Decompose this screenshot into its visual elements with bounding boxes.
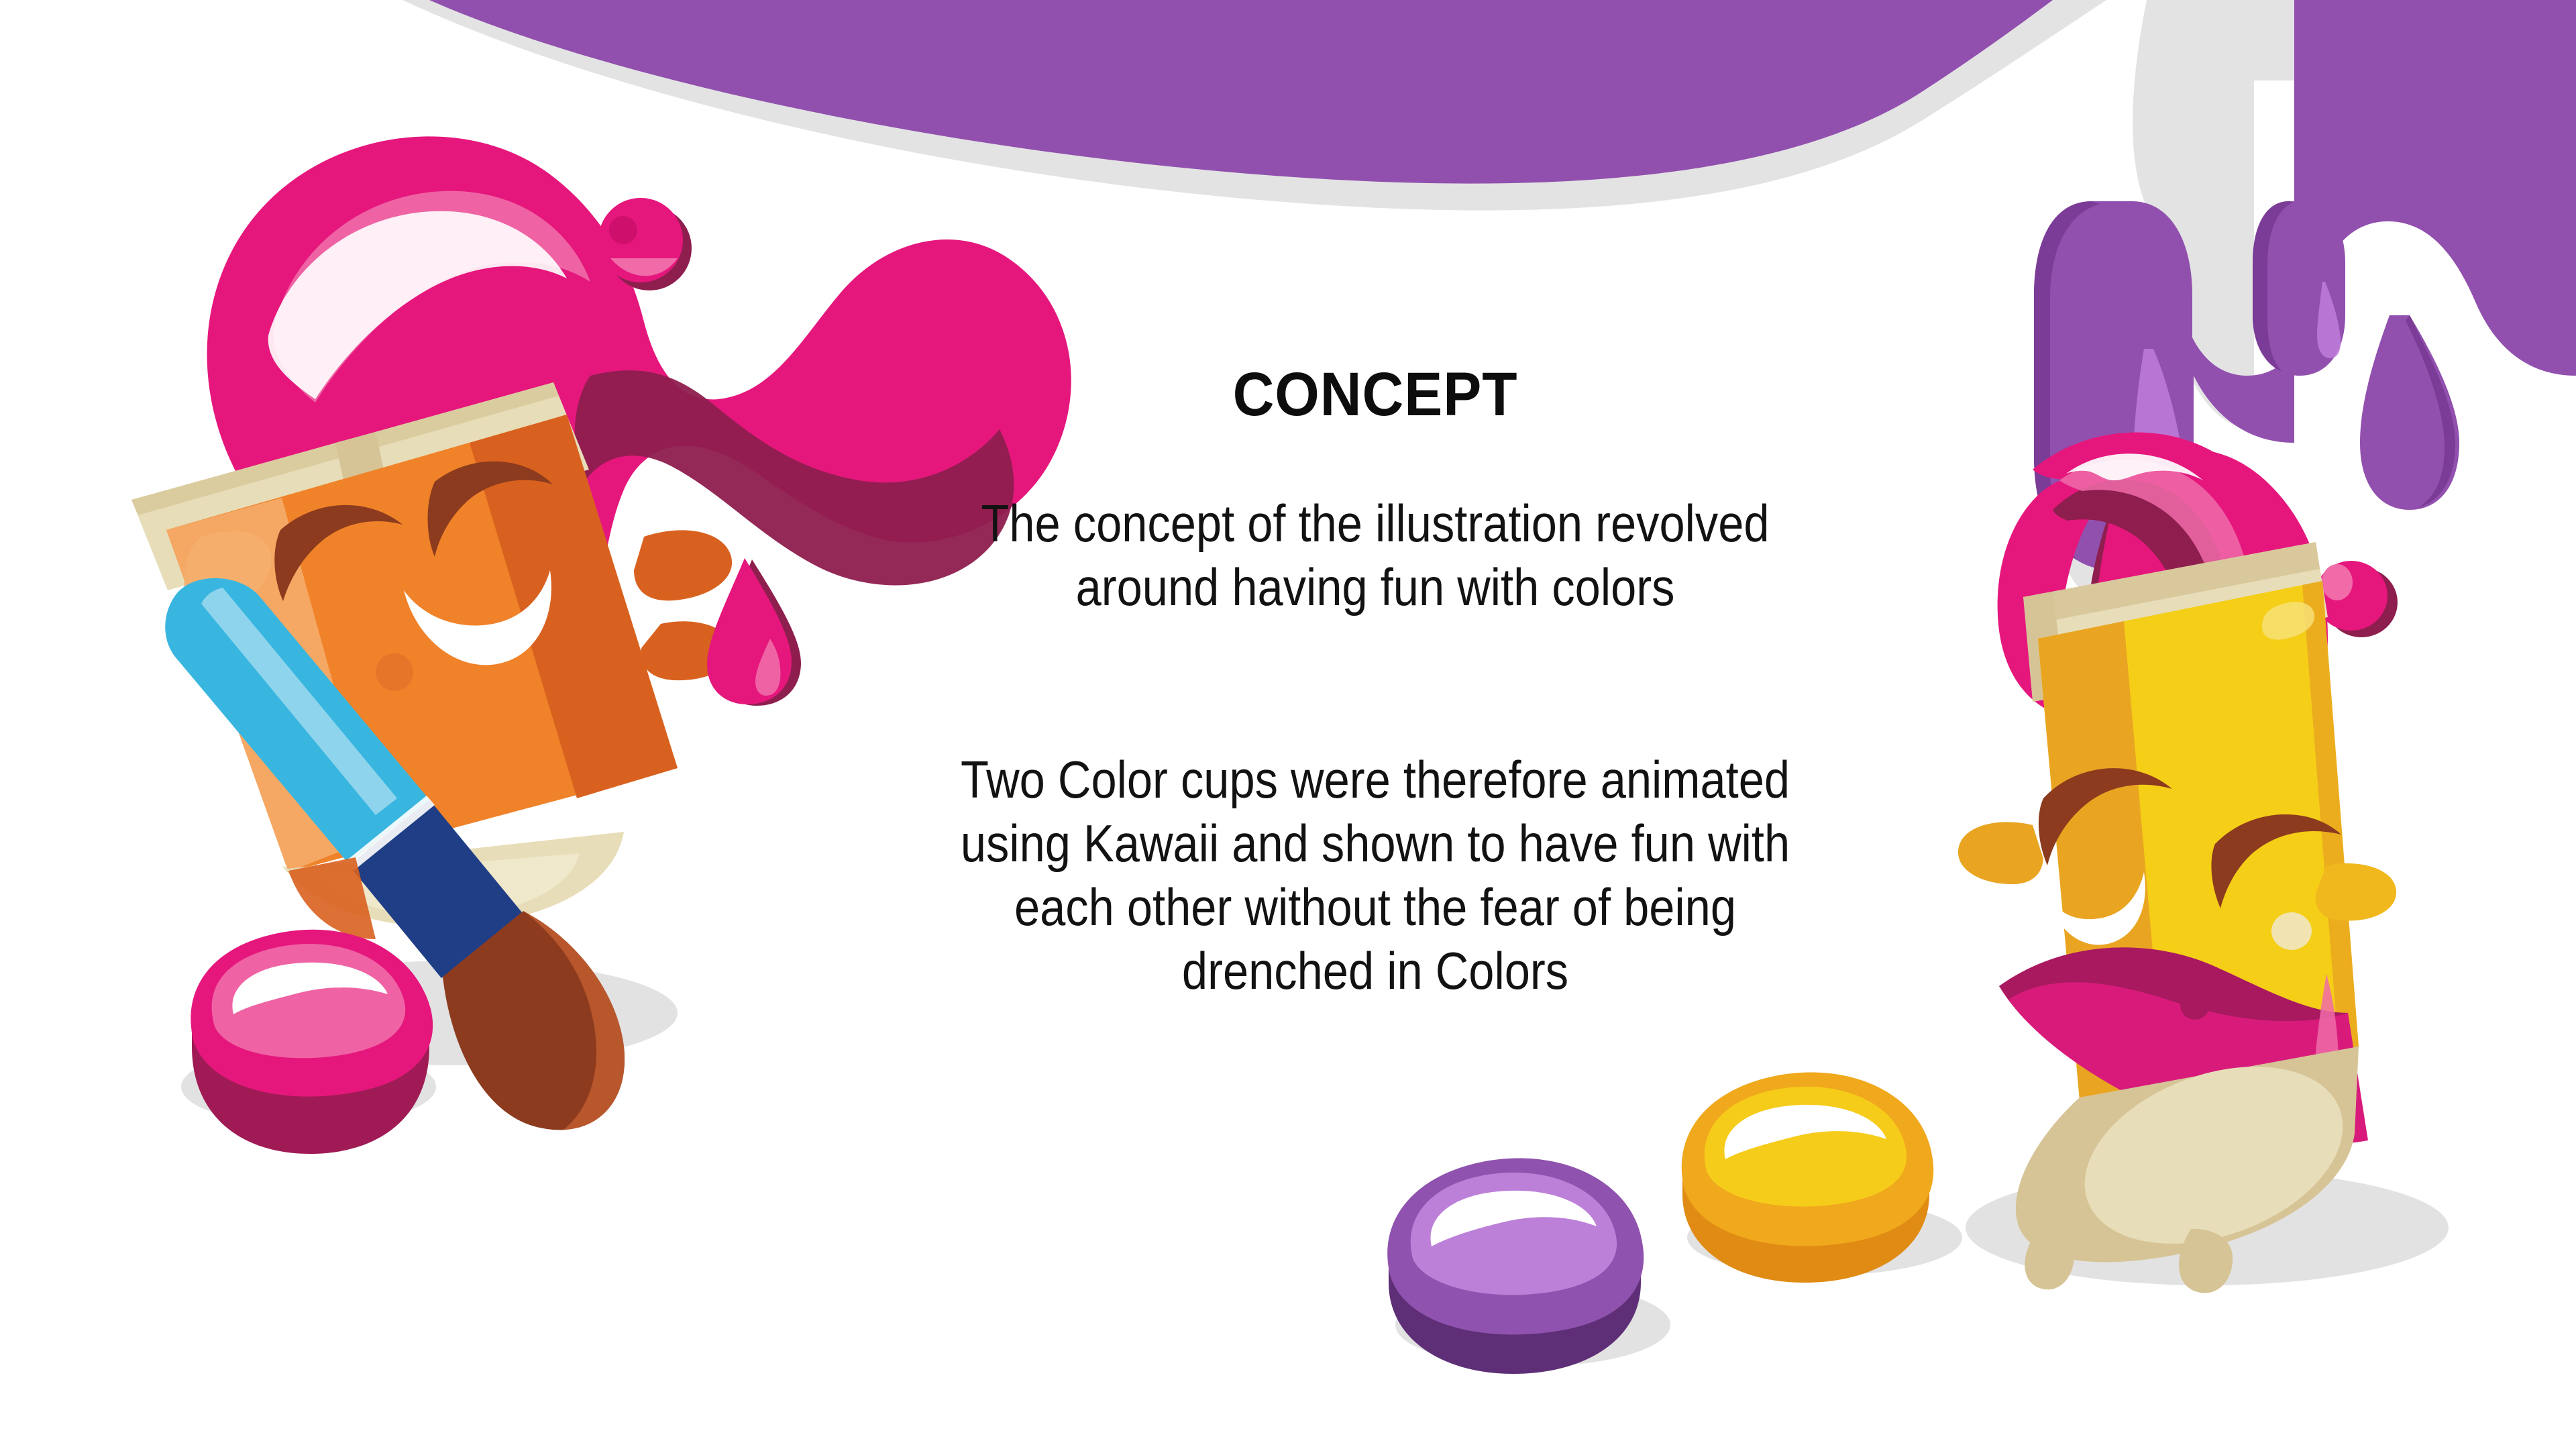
paragraph-two: Two Color cups were therefore animated u… — [861, 748, 1888, 1004]
yellow-cup-mouth-dot-2 — [2216, 992, 2239, 1015]
orange-cup-side-nub — [634, 530, 732, 600]
orange-cup-cheek — [376, 653, 413, 691]
paragraph-one: The concept of the illustration revolved… — [861, 492, 1888, 619]
pink-paint-blob — [191, 930, 433, 1154]
purple-paint-blob — [1387, 1158, 1644, 1374]
yellow-cup-nub-right — [2316, 863, 2396, 921]
yellow-cup-nub-left — [1958, 822, 2043, 884]
pink-dot-right-highlight — [2322, 564, 2353, 600]
page-title: CONCEPT — [833, 362, 1918, 427]
yellow-cup-cheek — [2271, 912, 2312, 950]
right-character-yellow-cup — [1958, 433, 2398, 1293]
yellow-cup-mouth-dot-1 — [2180, 990, 2210, 1020]
text-column: CONCEPT The concept of the illustration … — [792, 362, 1959, 1004]
pink-dot-eye — [609, 216, 637, 244]
slide-canvas: CONCEPT The concept of the illustration … — [0, 0, 2576, 1449]
yellow-paint-blob — [1682, 1072, 1933, 1283]
